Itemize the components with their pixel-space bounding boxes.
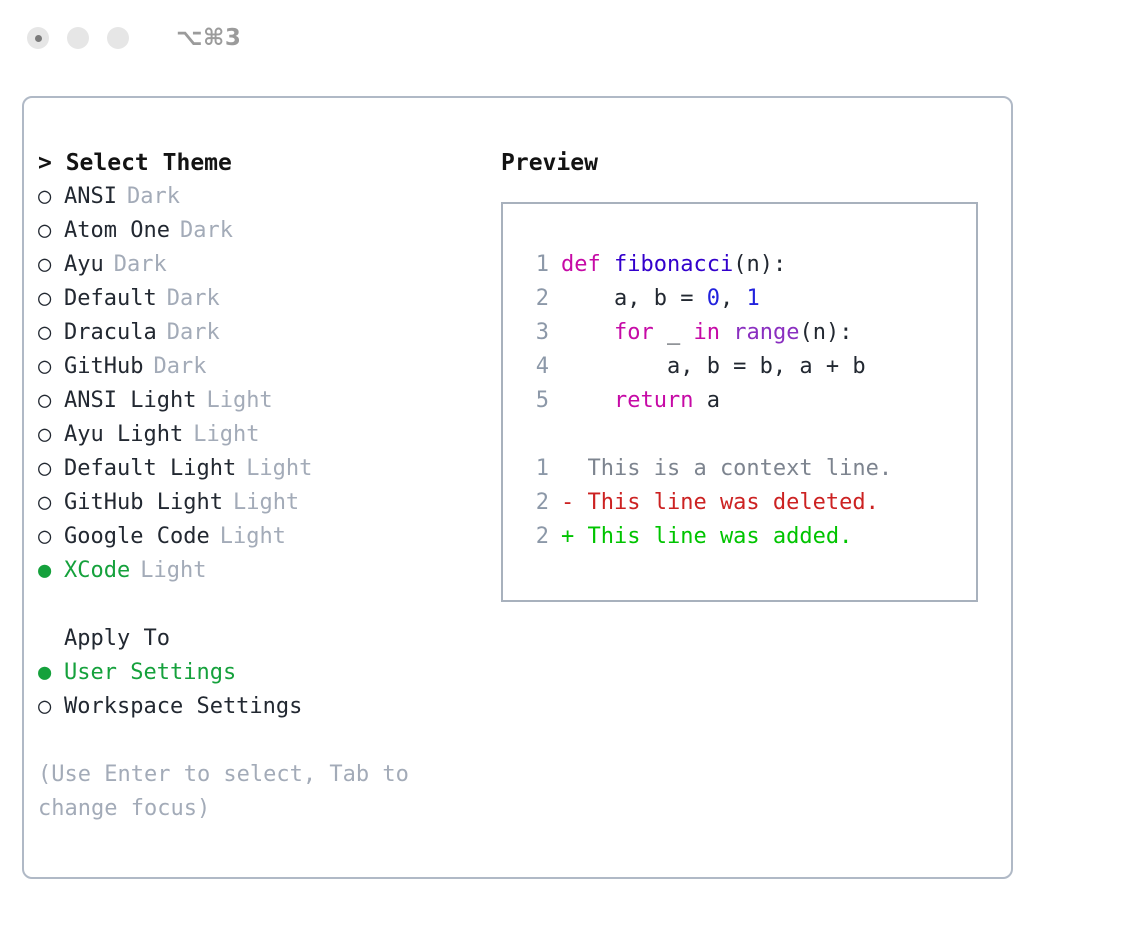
theme-option-label: Default (64, 282, 157, 316)
code-token-num: 0 (707, 286, 720, 311)
theme-option-tag: Dark (153, 350, 206, 384)
code-line: 4 a, b = b, a + b (515, 350, 976, 384)
radio-selected-icon: ● (38, 554, 64, 588)
theme-option-label: Google Code (64, 520, 210, 554)
code-line: 3 for _ in range(n): (515, 316, 976, 350)
code-token-plain (561, 320, 614, 345)
apply-to-heading: Apply To (38, 622, 488, 656)
theme-option-ansi-light[interactable]: ○ANSI LightLight (38, 384, 488, 418)
radio-unselected-icon: ○ (38, 282, 64, 316)
diff-line-text: - This line was deleted. (561, 486, 879, 520)
diff-line-number: 2 (515, 520, 549, 554)
code-diff-spacer (515, 418, 976, 452)
code-line-text: for _ in range(n): (561, 316, 852, 350)
theme-option-dracula[interactable]: ○DraculaDark (38, 316, 488, 350)
theme-option-ansi[interactable]: ○ANSIDark (38, 180, 488, 214)
radio-unselected-icon: ○ (38, 520, 64, 554)
apply-to-option-user-settings[interactable]: ●User Settings (38, 656, 488, 690)
theme-option-tag: Light (233, 486, 299, 520)
radio-unselected-icon: ○ (38, 384, 64, 418)
diff-line-context: 1 This is a context line. (515, 452, 976, 486)
theme-option-label: ANSI (64, 180, 117, 214)
theme-option-label: Ayu Light (64, 418, 183, 452)
content-panel: > Select Theme ○ANSIDark○Atom OneDark○Ay… (22, 96, 1013, 879)
theme-option-tag: Dark (167, 316, 220, 350)
code-token-num: 1 (746, 286, 759, 311)
code-line-number: 3 (515, 316, 549, 350)
code-token-kw: return (614, 388, 693, 413)
code-token-plain: (n): (799, 320, 852, 345)
radio-unselected-icon: ○ (38, 452, 64, 486)
theme-option-label: Dracula (64, 316, 157, 350)
traffic-light-three[interactable] (107, 27, 129, 49)
diff-line-number: 1 (515, 452, 549, 486)
code-token-plain: (n): (733, 252, 786, 277)
theme-option-tag: Light (206, 384, 272, 418)
theme-option-label: XCode (64, 554, 130, 588)
theme-option-ayu[interactable]: ○AyuDark (38, 248, 488, 282)
apply-to-option-workspace-settings[interactable]: ○Workspace Settings (38, 690, 488, 724)
theme-option-label: Ayu (64, 248, 104, 282)
keyboard-hint-text: (Use Enter to select, Tab to change focu… (38, 758, 438, 826)
code-line-number: 1 (515, 248, 549, 282)
theme-option-tag: Light (140, 554, 206, 588)
apply-to-option-list: ●User Settings○Workspace Settings (38, 656, 488, 724)
radio-unselected-icon: ○ (38, 248, 64, 282)
code-line-text: a, b = b, a + b (561, 350, 866, 384)
theme-option-ayu-light[interactable]: ○Ayu LightLight (38, 418, 488, 452)
code-token-plain: a, b = (561, 286, 707, 311)
code-token-plain: _ (654, 320, 694, 345)
theme-option-list: ○ANSIDark○Atom OneDark○AyuDark○DefaultDa… (38, 180, 488, 588)
code-token-plain: a (693, 388, 720, 413)
code-token-fn: fibonacci (614, 252, 733, 277)
theme-option-tag: Dark (114, 248, 167, 282)
code-line: 1def fibonacci(n): (515, 248, 976, 282)
traffic-light-record[interactable] (27, 27, 49, 49)
diff-line-del: 2- This line was deleted. (515, 486, 976, 520)
radio-unselected-icon: ○ (38, 350, 64, 384)
code-token-kw: in (693, 320, 720, 345)
app-window: ⌥⌘3 > Select Theme ○ANSIDark○Atom OneDar… (0, 0, 1140, 934)
radio-unselected-icon: ○ (38, 180, 64, 214)
theme-option-label: Default Light (64, 452, 236, 486)
code-line-text: return a (561, 384, 720, 418)
code-line-text: def fibonacci(n): (561, 248, 786, 282)
code-line: 2 a, b = 0, 1 (515, 282, 976, 316)
radio-unselected-icon: ○ (38, 690, 64, 724)
radio-unselected-icon: ○ (38, 486, 64, 520)
theme-option-default-light[interactable]: ○Default LightLight (38, 452, 488, 486)
theme-option-github[interactable]: ○GitHubDark (38, 350, 488, 384)
apply-to-option-label: Workspace Settings (64, 690, 302, 724)
theme-option-github-light[interactable]: ○GitHub LightLight (38, 486, 488, 520)
code-sample: 1def fibonacci(n):2 a, b = 0, 13 for _ i… (515, 248, 976, 418)
theme-option-label: Atom One (64, 214, 170, 248)
preview-heading: Preview (501, 146, 1001, 180)
preview-section: Preview 1def fibonacci(n):2 a, b = 0, 13… (501, 146, 1001, 602)
radio-unselected-icon: ○ (38, 418, 64, 452)
diff-line-text: This is a context line. (561, 452, 892, 486)
code-line-number: 2 (515, 282, 549, 316)
theme-option-label: GitHub (64, 350, 143, 384)
theme-option-tag: Dark (180, 214, 233, 248)
code-token-plain (561, 388, 614, 413)
traffic-light-two[interactable] (67, 27, 89, 49)
code-line-text: a, b = 0, 1 (561, 282, 760, 316)
diff-line-add: 2+ This line was added. (515, 520, 976, 554)
theme-option-google-code[interactable]: ○Google CodeLight (38, 520, 488, 554)
code-token-plain: a, b = b, a + b (561, 354, 866, 379)
code-token-kw: for (614, 320, 654, 345)
diff-line-text: + This line was added. (561, 520, 852, 554)
radio-unselected-icon: ○ (38, 316, 64, 350)
code-line: 5 return a (515, 384, 976, 418)
theme-option-label: GitHub Light (64, 486, 223, 520)
theme-option-tag: Light (246, 452, 312, 486)
theme-option-atom-one[interactable]: ○Atom OneDark (38, 214, 488, 248)
theme-option-tag: Dark (167, 282, 220, 316)
theme-option-default[interactable]: ○DefaultDark (38, 282, 488, 316)
radio-unselected-icon: ○ (38, 214, 64, 248)
code-token-plain (720, 320, 733, 345)
select-theme-heading: > Select Theme (38, 146, 488, 180)
code-line-number: 4 (515, 350, 549, 384)
diff-sample: 1 This is a context line.2- This line wa… (515, 452, 976, 554)
theme-option-tag: Dark (127, 180, 180, 214)
keyboard-shortcut-label: ⌥⌘3 (176, 25, 241, 51)
theme-option-label: ANSI Light (64, 384, 196, 418)
theme-option-tag: Light (220, 520, 286, 554)
preview-box: 1def fibonacci(n):2 a, b = 0, 13 for _ i… (501, 202, 978, 602)
code-line-number: 5 (515, 384, 549, 418)
titlebar: ⌥⌘3 (0, 0, 1140, 76)
code-token-kw: def (561, 252, 614, 277)
theme-option-tag: Light (193, 418, 259, 452)
theme-selector: > Select Theme ○ANSIDark○Atom OneDark○Ay… (38, 146, 488, 826)
apply-to-option-label: User Settings (64, 656, 236, 690)
code-token-plain: , (720, 286, 747, 311)
diff-line-number: 2 (515, 486, 549, 520)
theme-option-xcode[interactable]: ●XCodeLight (38, 554, 488, 588)
radio-selected-icon: ● (38, 656, 64, 690)
code-token-call: range (733, 320, 799, 345)
